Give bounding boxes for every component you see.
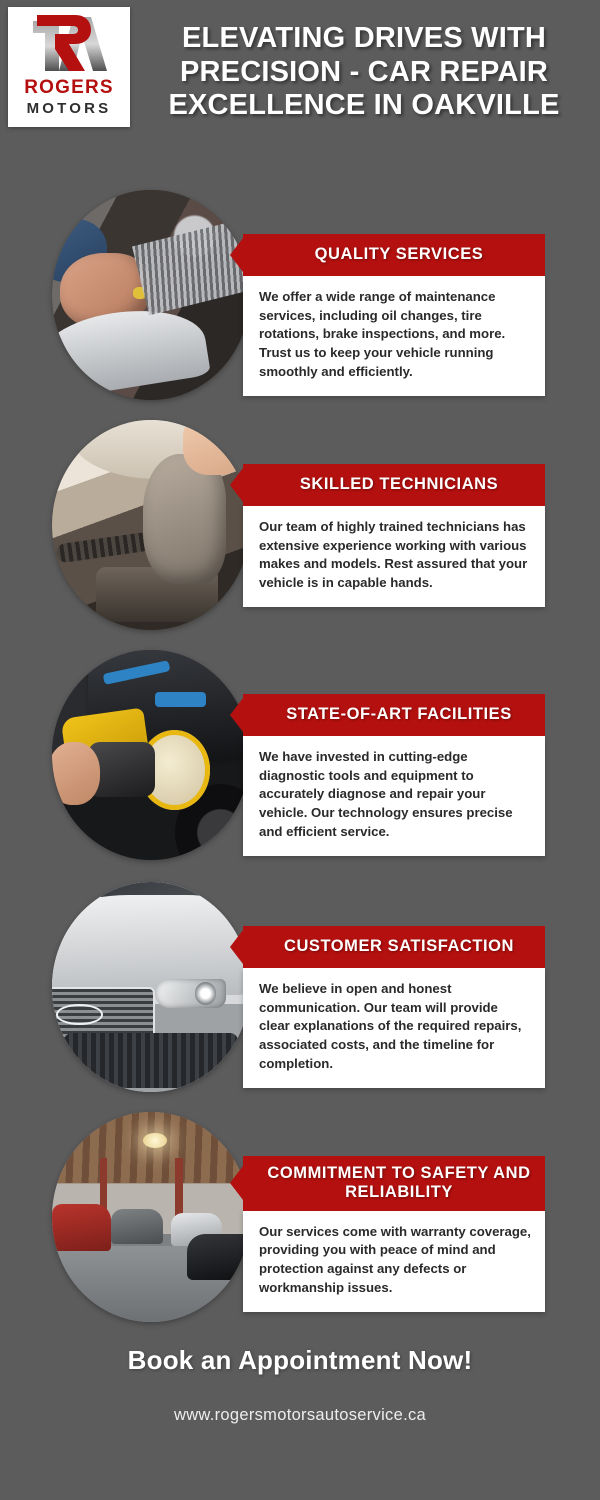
- card-title: STATE-OF-ART FACILITIES: [243, 694, 545, 736]
- logo-text-secondary: MOTORS: [27, 101, 112, 116]
- footer: Book an Appointment Now! www.rogersmotor…: [0, 1345, 600, 1425]
- card-title: QUALITY SERVICES: [243, 234, 545, 276]
- hand-shape: [52, 742, 100, 805]
- card-title: SKILLED TECHNICIANS: [243, 464, 545, 506]
- headlight-bulb-shape: [195, 982, 217, 1005]
- dipstick-shape: [133, 287, 147, 300]
- info-card: SKILLED TECHNICIANS Our team of highly t…: [243, 464, 545, 607]
- info-card: COMMITMENT TO SAFETY AND RELIABILITY Our…: [243, 1156, 545, 1312]
- silver-car-front-photo: [52, 882, 250, 1092]
- ceiling-light-icon: [143, 1133, 167, 1148]
- brand-logo[interactable]: ROGERS MOTORS: [8, 7, 130, 127]
- card-body: We believe in open and honest communicat…: [243, 968, 545, 1088]
- blue-vent-shape: [155, 692, 206, 707]
- info-card: CUSTOMER SATISFACTION We believe in open…: [243, 926, 545, 1088]
- card-body: Our services come with warranty coverage…: [243, 1211, 545, 1312]
- card-body: We have invested in cutting-edge diagnos…: [243, 736, 545, 856]
- card-body: We offer a wide range of maintenance ser…: [243, 276, 545, 396]
- engine-bay-maintenance-photo: [52, 190, 250, 400]
- silver-suv-shape: [111, 1209, 162, 1245]
- logo-text-primary: ROGERS: [24, 78, 114, 97]
- gloved-technician-engine-photo: [52, 420, 250, 630]
- car-polishing-tool-photo: [52, 650, 250, 860]
- rm-monogram-icon: [19, 13, 119, 75]
- card-title: COMMITMENT TO SAFETY AND RELIABILITY: [243, 1156, 545, 1211]
- header: ROGERS MOTORS ELEVATING DRIVES WITH PREC…: [0, 0, 600, 190]
- website-url[interactable]: www.rogersmotorsautoservice.ca: [0, 1406, 600, 1425]
- black-car-shape: [187, 1234, 250, 1280]
- cta-heading: Book an Appointment Now!: [0, 1345, 600, 1376]
- info-card: STATE-OF-ART FACILITIES We have invested…: [243, 694, 545, 856]
- red-truck-shape: [52, 1204, 111, 1250]
- page-title: ELEVATING DRIVES WITH PRECISION - CAR RE…: [142, 22, 586, 123]
- card-title: CUSTOMER SATISFACTION: [243, 926, 545, 968]
- hose-shape: [55, 531, 152, 563]
- info-card: QUALITY SERVICES We offer a wide range o…: [243, 234, 545, 396]
- auto-shop-interior-photo: [52, 1112, 250, 1322]
- roof-trusses-shape: [52, 1112, 250, 1183]
- arm-shape: [183, 420, 246, 475]
- emblem-icon: [56, 1004, 104, 1025]
- card-body: Our team of highly trained technicians h…: [243, 506, 545, 607]
- lower-grille-shape: [64, 1033, 238, 1088]
